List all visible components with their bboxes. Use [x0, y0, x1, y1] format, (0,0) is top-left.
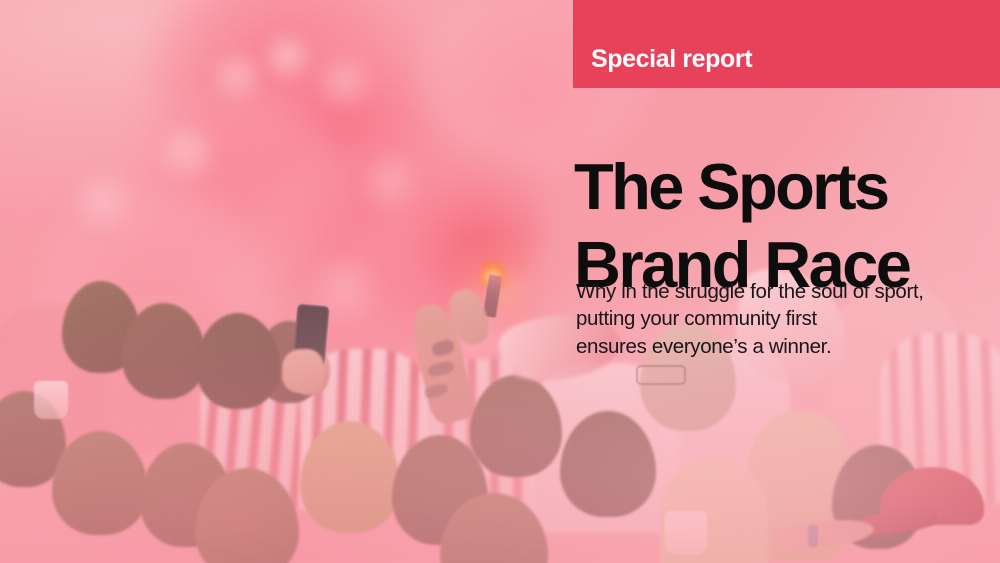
wristband [808, 525, 818, 547]
page-subtitle-line-1: Why in the struggle for the soul of spor… [576, 278, 924, 306]
eyeglasses-icon [636, 365, 686, 385]
smoke-edge-puff [150, 120, 222, 182]
smoke-edge-puff [258, 30, 316, 82]
smoke-edge-puff [310, 52, 380, 110]
page-subtitle: Why in the struggle for the soul of spor… [576, 278, 924, 361]
page-title-line-1: The Sports [574, 148, 909, 226]
hand-holding-phone [282, 349, 324, 393]
head [196, 313, 280, 409]
special-report-label: Special report [573, 47, 752, 88]
page-subtitle-line-2: putting your community first [576, 305, 924, 333]
plastic-cup [34, 381, 68, 419]
plastic-cup [665, 511, 707, 555]
hero-slide: Special report The Sports Brand Race Why… [0, 0, 1000, 563]
special-report-banner: Special report [573, 0, 1000, 88]
page-subtitle-line-3: ensures everyone’s a winner. [576, 333, 924, 361]
smoke-edge-puff [62, 168, 142, 234]
